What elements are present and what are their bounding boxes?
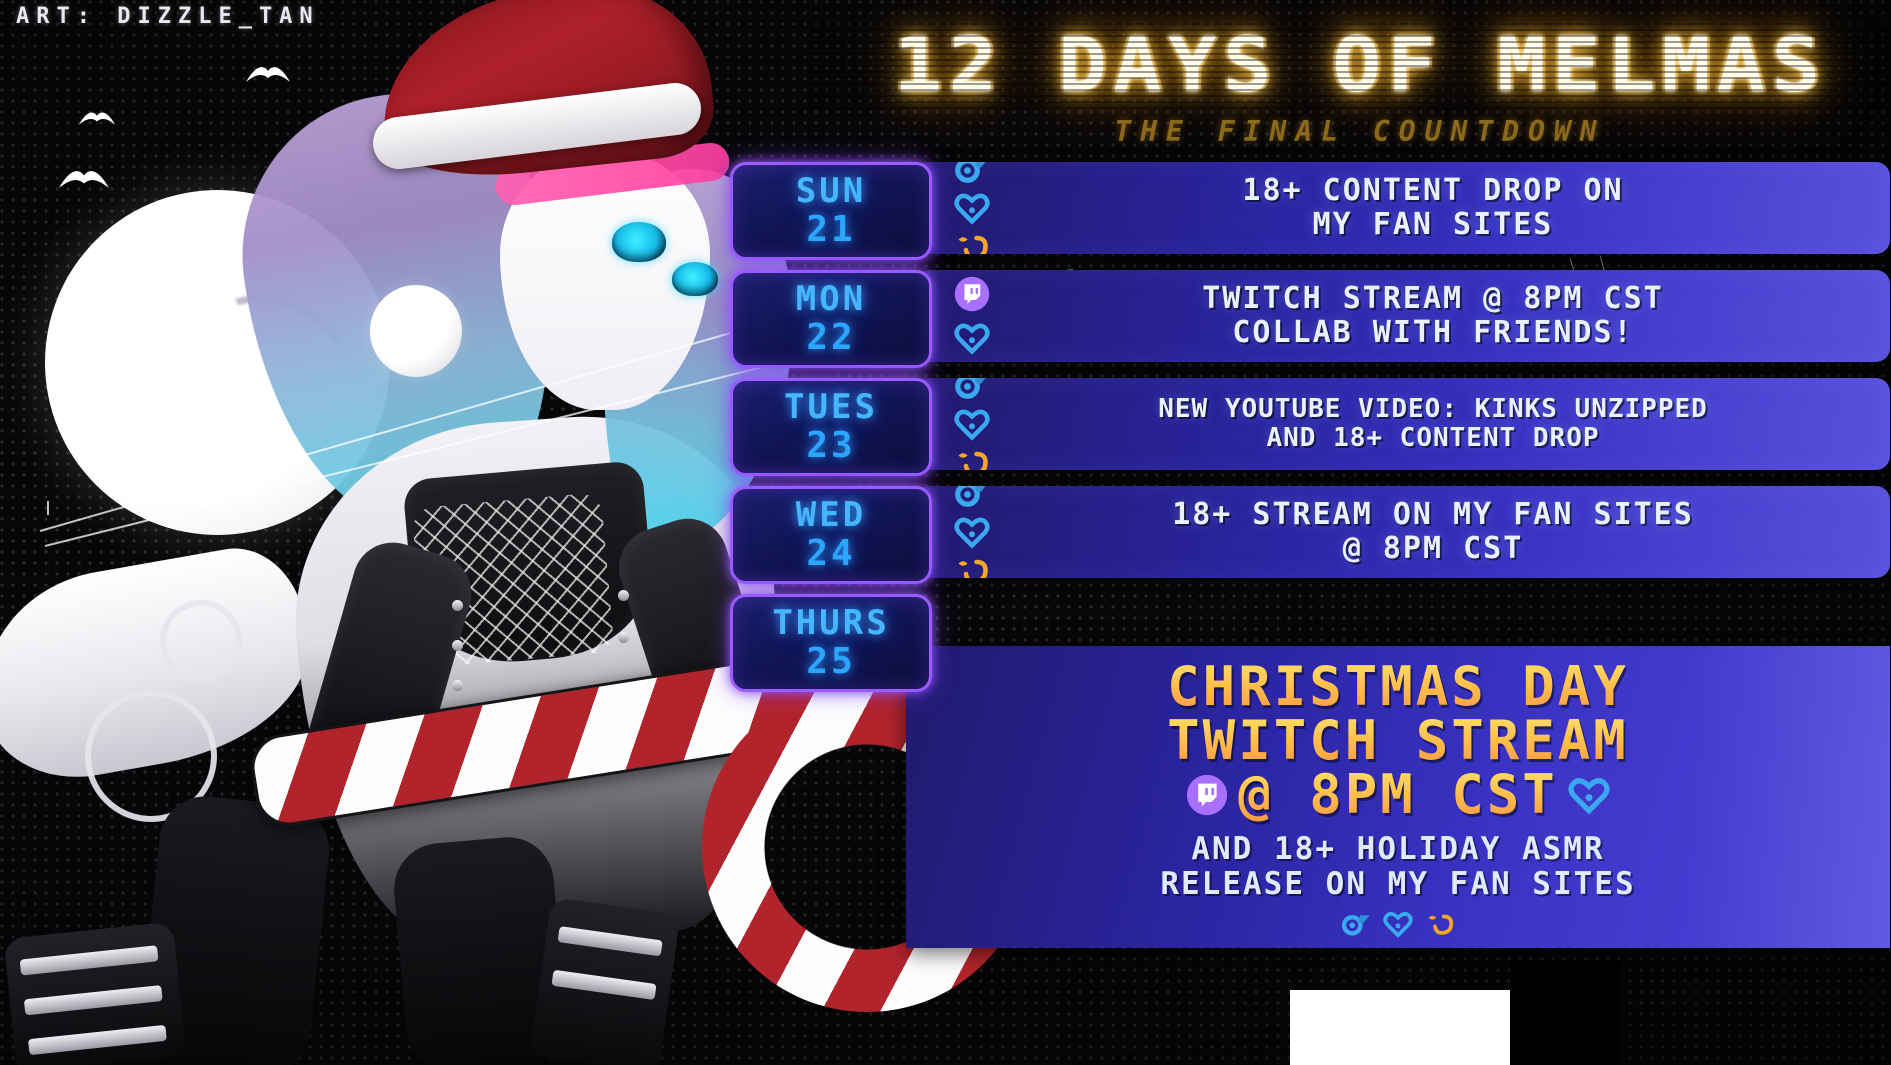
day-number: 21 (806, 212, 855, 248)
poster-canvas: ART: DIZZLE_TAN (0, 0, 1891, 1065)
platform-icon-group (944, 276, 1000, 356)
kofi-icon[interactable] (954, 553, 990, 578)
day-number: 25 (806, 644, 855, 680)
onlyfans-icon[interactable] (954, 162, 990, 187)
page-subtitle: THE FINAL COUNTDOWN (840, 115, 1880, 148)
schedule-row[interactable]: MON 22 TWITCH STREAM @ 8PM CST COLLAB WI… (730, 270, 1890, 362)
schedule-row-body: TWITCH STREAM @ 8PM CST COLLAB WITH FRIE… (916, 270, 1890, 362)
bird-icon (245, 62, 291, 88)
fansly-icon[interactable] (1383, 909, 1413, 939)
schedule-text-line2: COLLAB WITH FRIENDS! (1000, 316, 1866, 350)
schedule-text-line1: 18+ CONTENT DROP ON (1000, 174, 1866, 208)
schedule-row-body: 18+ STREAM ON MY FAN SITES @ 8PM CST (916, 486, 1890, 578)
day-badge: WED 24 (730, 486, 932, 584)
featured-headline-3-row: @ 8PM CST (924, 768, 1872, 822)
schedule-row-body: NEW YOUTUBE VIDEO: KINKS UNZIPPED AND 18… (916, 378, 1890, 470)
page-title: 12 DAYS OF MELMAS (809, 20, 1891, 109)
schedule-row-text: NEW YOUTUBE VIDEO: KINKS UNZIPPED AND 18… (1000, 395, 1890, 453)
kofi-icon[interactable] (954, 229, 990, 254)
day-name: THURS (772, 606, 889, 640)
wire-line (47, 501, 49, 515)
day-badge: MON 22 (730, 270, 932, 368)
day-name: MON (796, 282, 866, 316)
day-number: 22 (806, 320, 855, 356)
schedule-row-text: TWITCH STREAM @ 8PM CST COLLAB WITH FRIE… (1000, 282, 1890, 349)
boot-left (3, 921, 186, 1065)
fansly-icon[interactable] (954, 514, 990, 550)
bird-icon (78, 108, 116, 130)
schedule-row-text: 18+ STREAM ON MY FAN SITES @ 8PM CST (1000, 498, 1890, 565)
schedule-list: SUN 21 18+ CONTENT DROP ON MY FAN SITES (730, 162, 1890, 924)
eye-left (612, 222, 666, 262)
schedule-row-text: 18+ CONTENT DROP ON MY FAN SITES (1000, 174, 1890, 241)
platform-icon-group (944, 162, 1000, 254)
onlyfans-icon[interactable] (1341, 909, 1371, 939)
schedule-text-line1: 18+ STREAM ON MY FAN SITES (1000, 498, 1866, 532)
schedule-row[interactable]: WED 24 18+ STREAM ON MY FAN SITES @ 8PM … (730, 486, 1890, 578)
bird-icon (58, 165, 110, 195)
kofi-icon[interactable] (954, 445, 990, 470)
day-number: 23 (806, 428, 855, 464)
fansly-icon[interactable] (954, 406, 990, 442)
twitch-icon[interactable] (954, 276, 990, 312)
platform-icon-group (944, 486, 1000, 578)
day-name: TUES (784, 390, 878, 424)
schedule-text-line2: MY FAN SITES (1000, 208, 1866, 242)
day-name: SUN (796, 174, 866, 208)
day-badge: TUES 23 (730, 378, 932, 476)
featured-row-body: CHRISTMAS DAY TWITCH STREAM @ 8PM CST AN… (906, 646, 1890, 948)
schedule-row[interactable]: SUN 21 18+ CONTENT DROP ON MY FAN SITES (730, 162, 1890, 254)
fansly-icon[interactable] (954, 320, 990, 356)
schedule-row[interactable]: TUES 23 NEW YOUTUBE VIDEO: KINKS UNZIPPE… (730, 378, 1890, 470)
schedule-text-line2: @ 8PM CST (1000, 532, 1866, 566)
day-badge: SUN 21 (730, 162, 932, 260)
schedule-panel: 12 DAYS OF MELMAS THE FINAL COUNTDOWN SU… (860, 0, 1891, 1065)
fansly-icon[interactable] (954, 190, 990, 226)
schedule-text-line2: AND 18+ CONTENT DROP (1000, 424, 1866, 453)
header-block: 12 DAYS OF MELMAS THE FINAL COUNTDOWN (840, 20, 1880, 148)
chain-loop (160, 600, 242, 682)
featured-sub-2: RELEASE ON MY FAN SITES (924, 867, 1872, 902)
featured-sub-1: AND 18+ HOLIDAY ASMR (924, 832, 1872, 867)
featured-schedule-row[interactable]: THURS 25 CHRISTMAS DAY TWITCH STREAM @ 8… (730, 594, 1890, 924)
featured-headline-2: TWITCH STREAM (924, 714, 1872, 768)
schedule-row-body: 18+ CONTENT DROP ON MY FAN SITES (916, 162, 1890, 254)
featured-headline-3: @ 8PM CST (1238, 768, 1558, 822)
eye-right (672, 262, 718, 296)
day-name: WED (796, 498, 866, 532)
santa-hat-pompom (370, 285, 462, 377)
kofi-icon[interactable] (1425, 909, 1455, 939)
twitch-icon[interactable] (1186, 774, 1228, 816)
platform-icon-group (944, 378, 1000, 470)
featured-headline-1: CHRISTMAS DAY (924, 660, 1872, 714)
fansly-icon[interactable] (1568, 774, 1610, 816)
schedule-text-line1: TWITCH STREAM @ 8PM CST (1000, 282, 1866, 316)
onlyfans-icon[interactable] (954, 378, 990, 403)
artist-credit: ART: DIZZLE_TAN (16, 4, 320, 29)
day-number: 24 (806, 536, 855, 572)
featured-icon-group (924, 909, 1872, 939)
onlyfans-icon[interactable] (954, 486, 990, 511)
schedule-text-line1: NEW YOUTUBE VIDEO: KINKS UNZIPPED (1000, 395, 1866, 424)
day-badge-featured: THURS 25 (730, 594, 932, 692)
